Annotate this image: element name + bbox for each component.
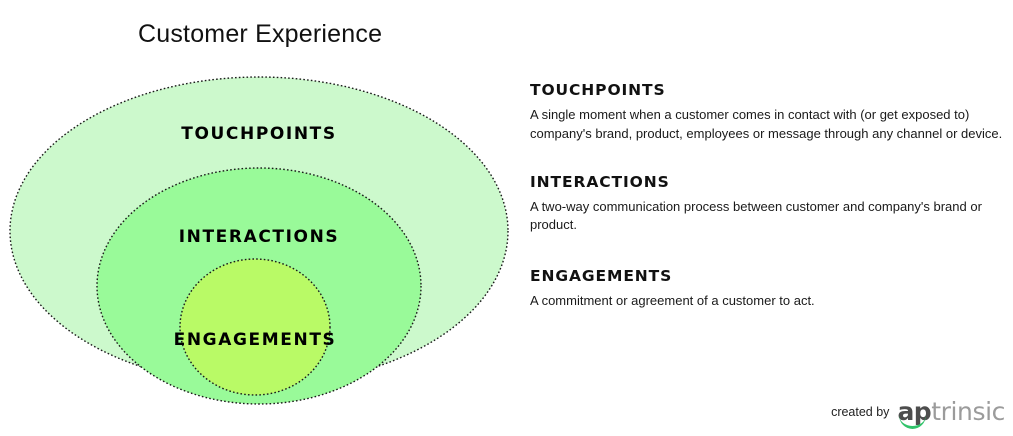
ring-label-touchpoints: TOUCHPOINTS (181, 124, 336, 144)
definition-body-interactions: A two-way communication process between … (530, 198, 1006, 235)
customer-experience-diagram: TOUCHPOINTS INTERACTIONS ENGAGEMENTS (0, 60, 520, 420)
definition-body-engagements: A commitment or agreement of a customer … (530, 292, 1006, 310)
credit-line: created by ap trinsic (831, 399, 1005, 424)
aptrinsic-logo-light-part: trinsic (931, 399, 1005, 424)
ring-label-interactions: INTERACTIONS (179, 227, 340, 247)
definitions-panel: TOUCHPOINTS A single moment when a custo… (530, 82, 1008, 310)
definition-interactions: INTERACTIONS A two-way communication pro… (530, 174, 1008, 235)
definition-heading-touchpoints: TOUCHPOINTS (530, 82, 1008, 99)
definition-body-touchpoints: A single moment when a customer comes in… (530, 106, 1006, 143)
aptrinsic-logo: ap trinsic (897, 399, 1005, 424)
definition-heading-engagements: ENGAGEMENTS (530, 268, 1008, 285)
smile-swoosh-icon (899, 415, 926, 429)
ring-engagements-shape (180, 259, 330, 395)
definition-engagements: ENGAGEMENTS A commitment or agreement of… (530, 268, 1008, 311)
credit-label: created by (831, 405, 889, 419)
definition-touchpoints: TOUCHPOINTS A single moment when a custo… (530, 82, 1008, 143)
definition-heading-interactions: INTERACTIONS (530, 174, 1008, 191)
ring-label-engagements: ENGAGEMENTS (174, 330, 337, 350)
page-title: Customer Experience (138, 20, 382, 49)
